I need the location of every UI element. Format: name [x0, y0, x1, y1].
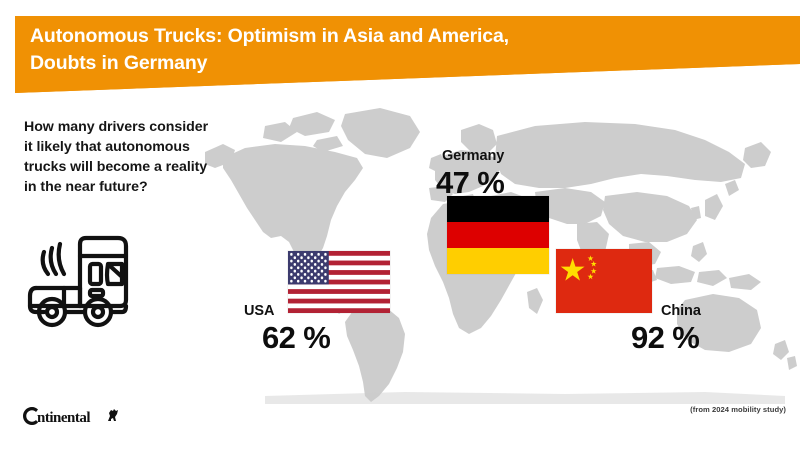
page-title-line1: Autonomous Trucks: Optimism in Asia and …	[30, 23, 630, 50]
question-line1: How many drivers consider	[24, 117, 256, 137]
page-title-line2: Doubts in Germany	[30, 50, 630, 77]
flag-germany	[447, 196, 549, 274]
flag-china	[556, 249, 652, 313]
flag-usa	[288, 251, 390, 313]
country-label-china: China	[661, 303, 701, 319]
question-line3: trucks will become a reality	[24, 157, 256, 177]
country-value-china: 92 %	[631, 320, 699, 356]
question-line2: it likely that autonomous	[24, 137, 256, 157]
question-line4: in the near future?	[24, 177, 256, 197]
page-title: Autonomous Trucks: Optimism in Asia and …	[30, 23, 630, 77]
connected-truck-icon	[22, 226, 152, 338]
country-label-germany: Germany	[442, 148, 504, 164]
infographic-canvas: Autonomous Trucks: Optimism in Asia and …	[0, 0, 800, 450]
svg-text:ntinental: ntinental	[37, 410, 90, 426]
continental-logo: ntinental	[22, 404, 120, 428]
source-note: (from 2024 mobility study)	[690, 405, 786, 414]
question-text: How many drivers consider it likely that…	[24, 117, 256, 198]
country-label-usa: USA	[244, 303, 274, 319]
country-value-germany: 47 %	[436, 165, 504, 201]
country-value-usa: 62 %	[262, 320, 330, 356]
